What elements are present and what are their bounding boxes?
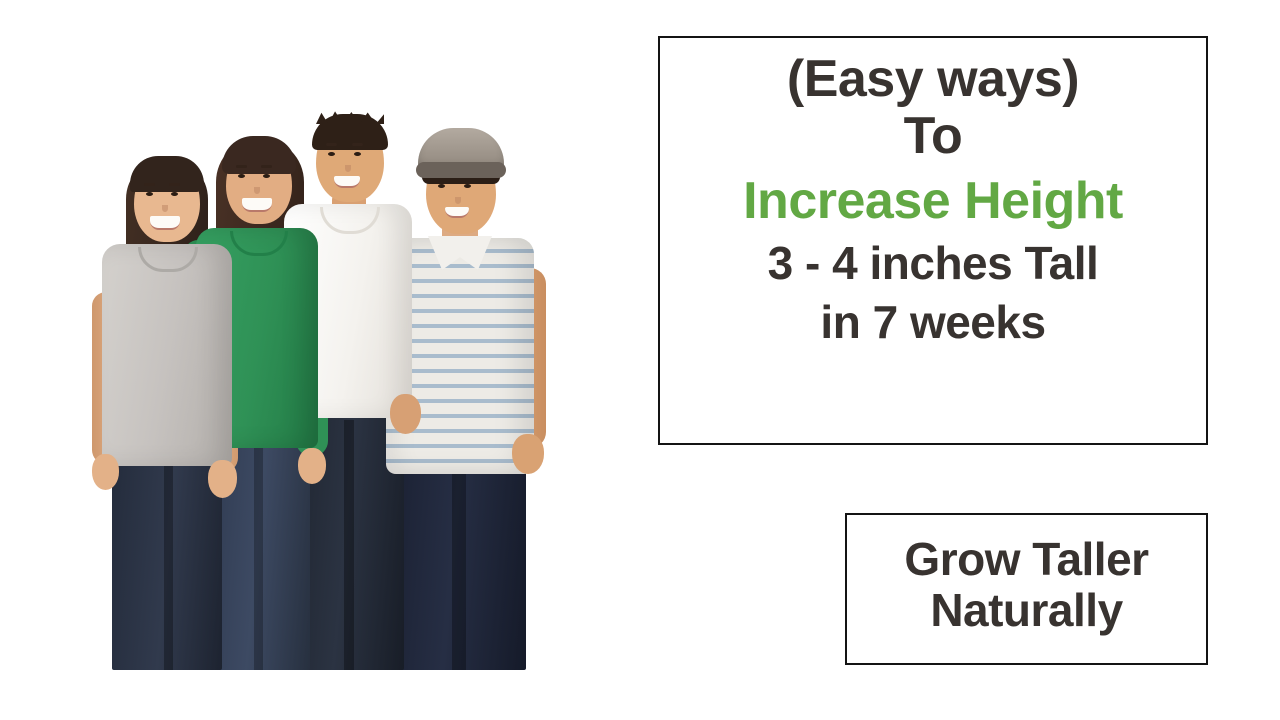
hand-right xyxy=(208,460,237,498)
hair-bangs xyxy=(130,156,204,192)
shorts-shadow xyxy=(452,458,466,670)
headline-line-increase-height: Increase Height xyxy=(660,174,1206,229)
brow-left xyxy=(326,143,337,146)
headline-line-in-7-weeks: in 7 weeks xyxy=(660,298,1206,347)
nose xyxy=(345,165,351,172)
tagline-line-naturally: Naturally xyxy=(847,585,1206,636)
group-photo xyxy=(60,30,600,670)
eye-left xyxy=(328,152,335,156)
brow-right xyxy=(352,143,363,146)
hand-left xyxy=(92,454,119,490)
slide-canvas: (Easy ways) To Increase Height 3 - 4 inc… xyxy=(0,0,1280,720)
beanie-brim xyxy=(416,162,506,178)
nose xyxy=(162,205,168,212)
headline-line-easy-ways: (Easy ways) xyxy=(660,52,1206,107)
eye-right xyxy=(171,192,178,196)
eye-right xyxy=(263,174,270,178)
brow-right xyxy=(169,183,180,186)
smile-wide xyxy=(242,198,272,212)
tagline-box: Grow Taller Naturally xyxy=(845,513,1208,665)
headline-line-inches-tall: 3 - 4 inches Tall xyxy=(660,239,1206,288)
hand-right xyxy=(512,434,544,474)
hair-top xyxy=(222,136,296,174)
smile xyxy=(334,176,360,188)
smile-wide xyxy=(150,216,180,230)
brow-right xyxy=(261,165,272,168)
photo-stage xyxy=(60,30,600,670)
hand-right xyxy=(390,394,421,434)
headline-box: (Easy ways) To Increase Height 3 - 4 inc… xyxy=(658,36,1208,445)
eye-left xyxy=(238,174,245,178)
gray-tshirt xyxy=(102,244,232,466)
jeans-seam xyxy=(164,466,173,670)
eye-left xyxy=(438,184,445,188)
nose xyxy=(455,197,461,204)
eye-right xyxy=(464,184,471,188)
jeans-seam xyxy=(344,420,354,670)
hand-right xyxy=(298,448,326,484)
nose xyxy=(254,187,260,194)
headline-line-to: To xyxy=(660,109,1206,164)
brow-left xyxy=(144,183,155,186)
eye-right xyxy=(354,152,361,156)
eye-left xyxy=(146,192,153,196)
jeans-seam xyxy=(254,448,263,670)
brow-left xyxy=(236,165,247,168)
tagline-line-grow-taller: Grow Taller xyxy=(847,534,1206,585)
